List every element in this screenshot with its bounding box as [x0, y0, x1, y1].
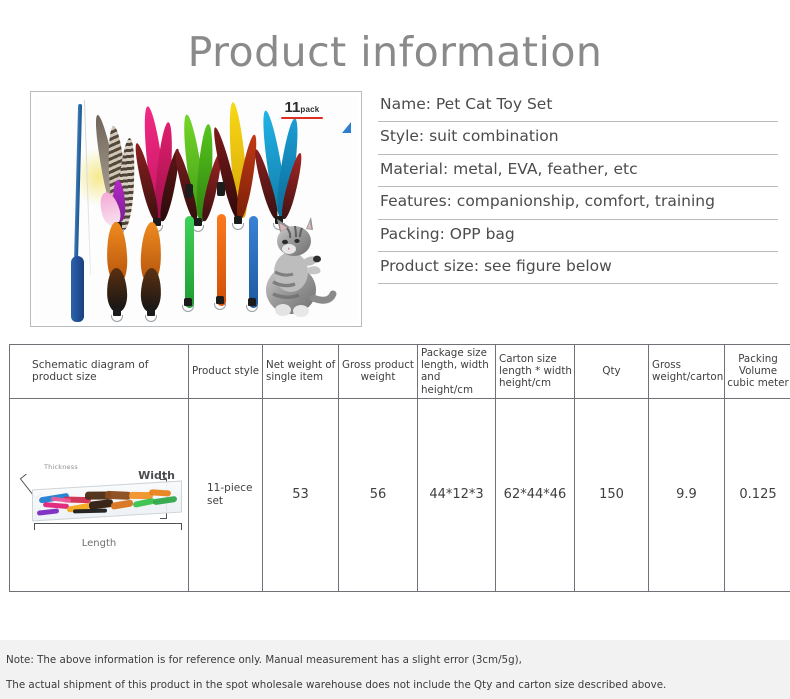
specification-table: Schematic diagram of product size Produc… [9, 344, 790, 592]
dimension-bracket-length [34, 523, 182, 530]
cell-qty: 150 [575, 398, 649, 591]
spec-row-name: Name: Pet Cat Toy Set [378, 93, 778, 122]
header-net-weight: Net weight of single item [263, 345, 339, 399]
product-photo: 11pack [30, 91, 362, 327]
pack-count-badge: 11pack [281, 99, 323, 119]
header-gross-weight-carton: Gross weight/carton [649, 345, 725, 399]
note-line-2: The actual shipment of this product in t… [6, 679, 782, 693]
note-line-1: Note: The above information is for refer… [6, 654, 782, 668]
wand-grip [71, 256, 84, 322]
size-schematic: Thickness Width Length [10, 399, 188, 591]
product-photo-canvas: 11pack [35, 96, 357, 322]
diagram-label-length: Length [10, 538, 188, 549]
cell-gross-weight-carton: 9.9 [649, 398, 725, 591]
spec-list: Name: Pet Cat Toy Set Style: suit combin… [378, 91, 778, 284]
header-schematic-diagram: Schematic diagram of product size [10, 345, 189, 399]
header-qty: Qty [575, 345, 649, 399]
pack-count-text: 11pack [281, 99, 323, 116]
header-package-size: Package size length, width and height/cm [418, 345, 496, 399]
attachment-clip-icon [111, 308, 123, 321]
attachment-clip-icon [214, 296, 226, 309]
cell-carton-size: 62*44*46 [496, 398, 575, 591]
diagram-label-width: Width [138, 469, 175, 482]
cell-schematic-diagram: Thickness Width Length [10, 398, 189, 591]
spec-row-material: Material: metal, EVA, feather, etc [378, 155, 778, 187]
cell-packing-volume: 0.125 [725, 398, 790, 591]
spec-row-style: Style: suit combination [378, 122, 778, 154]
specification-table-wrap: Schematic diagram of product size Produc… [0, 327, 790, 592]
header-product-style: Product style [189, 345, 263, 399]
table-body: Thickness Width Length [10, 398, 790, 591]
page-title: Product information [0, 0, 790, 75]
footer-notes: Note: The above information is for refer… [0, 640, 790, 699]
pack-count-unit: pack [300, 105, 319, 114]
cell-net-weight: 53 [263, 398, 339, 591]
header-gross-product-weight: Gross product weight [339, 345, 418, 399]
spec-row-product-size: Product size: see figure below [378, 252, 778, 284]
table-header-row: Schematic diagram of product size Produc… [10, 345, 790, 399]
attachment-clip-icon [182, 298, 194, 311]
kitten-photo [251, 214, 343, 318]
pack-count-number: 11 [285, 99, 301, 116]
table-row: Thickness Width Length [10, 398, 790, 591]
header-carton-size: Carton size length * width height/cm [496, 345, 575, 399]
spec-row-packing: Packing: OPP bag [378, 220, 778, 252]
attachment-clip-icon [145, 308, 157, 321]
badge-underline [281, 117, 323, 119]
badge-corner-triangle-icon [342, 122, 351, 133]
cell-package-size: 44*12*3 [418, 398, 496, 591]
cell-product-style: 11-piece set [189, 398, 263, 591]
attachment-clip-icon [232, 216, 244, 229]
diagram-label-thickness: Thickness [44, 463, 78, 471]
cell-gross-product-weight: 56 [339, 398, 418, 591]
spec-row-features: Features: companionship, comfort, traini… [378, 187, 778, 219]
header-packing-volume: Packing Volume cubic meter [725, 345, 790, 399]
product-overview-section: 11pack [0, 75, 790, 327]
